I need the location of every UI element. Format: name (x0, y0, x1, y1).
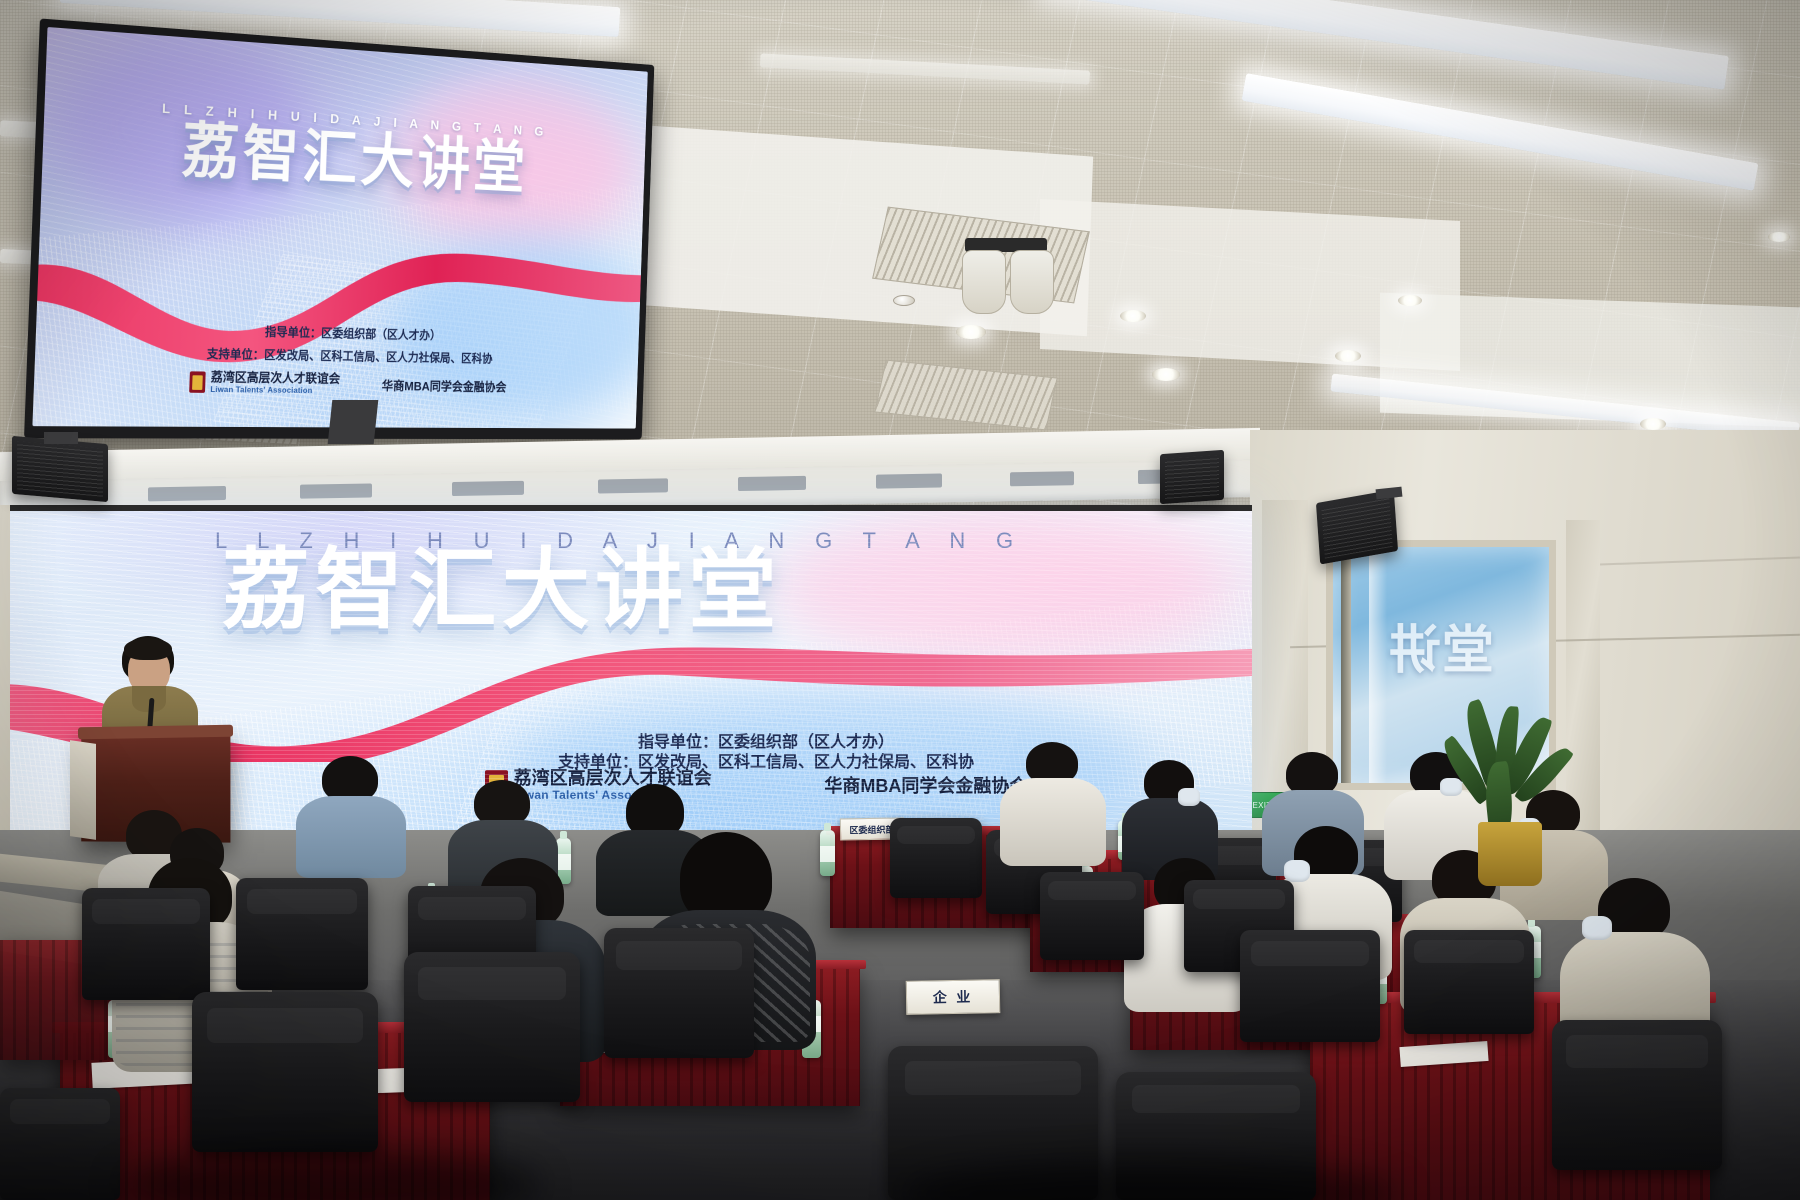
left-wall (0, 505, 10, 865)
downlight-1 (956, 325, 986, 339)
display-screen: L L Z H I H U I D A J I A N G T A N G 荔智… (32, 27, 647, 429)
person-torso (1000, 778, 1106, 866)
audience-person-b1 (296, 756, 406, 876)
placard-3-text: 企 业 (933, 987, 974, 1008)
speaker-grille-center (1165, 455, 1219, 499)
placard-1-text: 区委组织部 (849, 822, 894, 836)
truss-fixture-5 (738, 476, 806, 491)
chair-back-1 (890, 818, 982, 898)
speaker-center (1160, 450, 1224, 504)
truss-fixture-3 (452, 481, 524, 496)
podium-side-panel (70, 740, 96, 840)
person-face-mask (1178, 788, 1200, 806)
organizer-left: 荔湾区高层次人才联谊会 Liwan Talents' Association (189, 370, 341, 396)
organizer-left-en: Liwan Talents' Association (210, 385, 340, 396)
truss-fixture-7 (1010, 471, 1074, 486)
potted-plant (1438, 700, 1588, 890)
truss-fixture-4 (598, 478, 668, 493)
audience-person-r1 (1000, 742, 1106, 862)
truss-fixture-1 (148, 486, 226, 501)
organizer-right-cn: 华商MBA同学会金融协会 (382, 376, 507, 395)
chair-front-6 (1240, 930, 1380, 1042)
display-wall-mount (328, 400, 379, 444)
speaker-left-bracket (44, 432, 78, 444)
reflected-screen-text: 堂讲 (1388, 608, 1494, 683)
downlight-6 (1640, 418, 1666, 430)
chair-front-1 (192, 992, 378, 1152)
downlight-4 (1335, 350, 1361, 362)
chair-front-2 (404, 952, 580, 1102)
downlight-5 (1398, 295, 1422, 306)
chair-mid-5 (1040, 872, 1144, 960)
speaker-grille-right (1321, 495, 1392, 558)
bottle-label (820, 846, 835, 862)
truss-fixture-6 (876, 474, 942, 489)
wall-mounted-display[interactable]: L L Z H I H U I D A J I A N G T A N G 荔智… (24, 18, 654, 439)
person-face-mask (1582, 916, 1612, 940)
person-torso (296, 796, 406, 878)
door-stile (1341, 547, 1351, 783)
chair-front-9 (0, 1088, 120, 1200)
presenter-fringe (124, 638, 172, 660)
speaker-grille (17, 441, 103, 497)
led-top-bezel (0, 505, 1252, 511)
truss-fixture-2 (300, 483, 372, 498)
downlight-2 (1120, 310, 1146, 322)
liwan-crest-icon (189, 372, 206, 394)
downlight-3 (1152, 368, 1180, 381)
ceiling-projector-right (1010, 250, 1054, 314)
chair-mid-1 (236, 878, 368, 990)
chair-front-8 (1552, 1020, 1722, 1170)
chair-front-7 (1404, 930, 1534, 1034)
downlight-8 (1768, 232, 1790, 242)
conference-hall-photo: L L Z H I H U I D A J I A N G T A N G 荔智… (0, 0, 1800, 1200)
person-face-mask (1284, 860, 1310, 882)
organizer-right: 华商MBA同学会金融协会 (382, 376, 507, 395)
smoke-detector-1 (893, 295, 915, 306)
table-placard-3: 企 业 (906, 979, 1001, 1015)
plant-pot (1478, 822, 1542, 886)
ceiling-projector-left (962, 250, 1006, 314)
speaker-left-upper (12, 436, 108, 502)
door-glare (1369, 547, 1387, 783)
chair-mid-2 (82, 888, 210, 1000)
water-bottle-2 (820, 830, 835, 876)
chair-front-3 (604, 928, 754, 1058)
